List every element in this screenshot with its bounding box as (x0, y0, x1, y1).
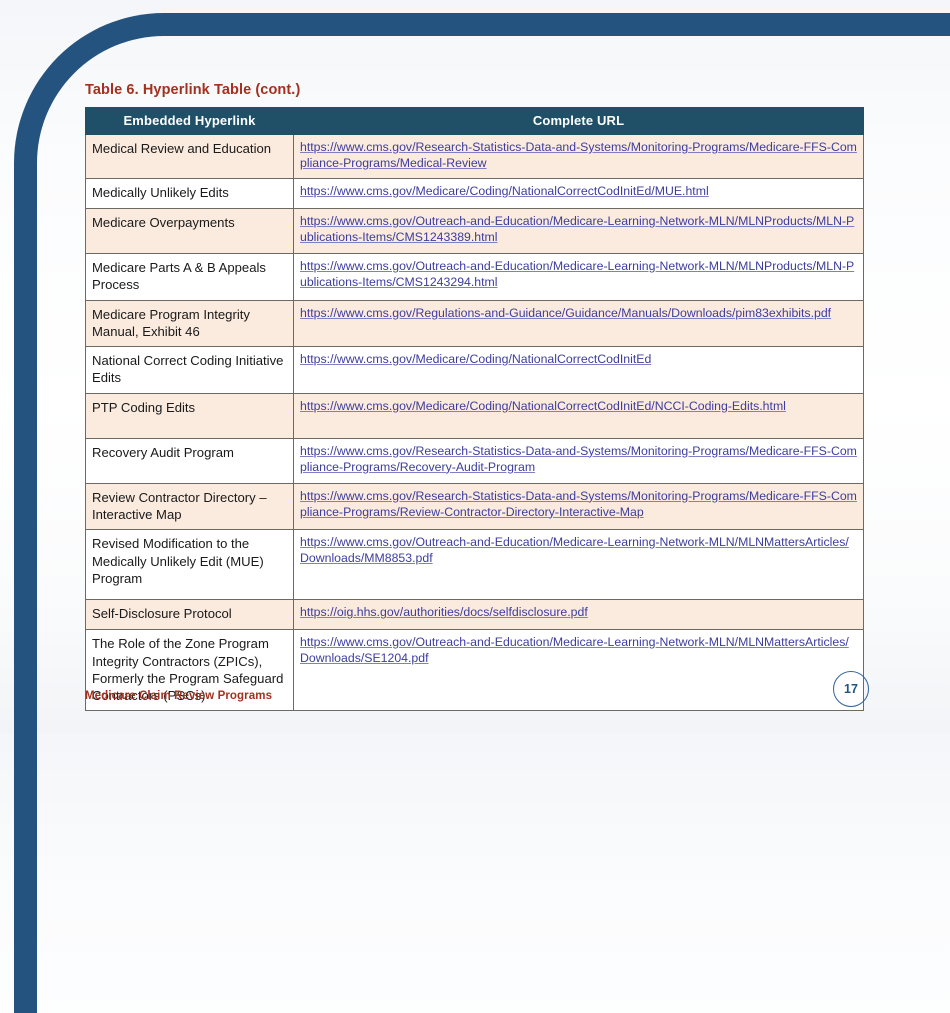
url-link[interactable]: https://oig.hhs.gov/authorities/docs/sel… (300, 605, 588, 619)
url-link[interactable]: https://www.cms.gov/Outreach-and-Educati… (300, 635, 849, 665)
table-row: National Correct Coding Initiative Edits… (86, 347, 864, 394)
table-body: Medical Review and Educationhttps://www.… (86, 135, 864, 711)
cell-embedded-hyperlink: Medically Unlikely Edits (86, 178, 294, 208)
cell-complete-url: https://www.cms.gov/Research-Statistics-… (294, 135, 864, 179)
cell-complete-url: https://www.cms.gov/Research-Statistics-… (294, 483, 864, 530)
url-link[interactable]: https://www.cms.gov/Outreach-and-Educati… (300, 535, 849, 565)
page-title: Table 6. Hyperlink Table (cont.) (85, 82, 300, 98)
footer-document-title: Medicare Claim Review Programs (85, 690, 272, 702)
url-link[interactable]: https://www.cms.gov/Regulations-and-Guid… (300, 306, 831, 320)
table-row: Medicare Parts A & B Appeals Processhttp… (86, 253, 864, 300)
cell-embedded-hyperlink: Medicare Program Integrity Manual, Exhib… (86, 300, 294, 347)
cell-complete-url: https://www.cms.gov/Outreach-and-Educati… (294, 253, 864, 300)
cell-embedded-hyperlink: Medicare Overpayments (86, 208, 294, 253)
cell-embedded-hyperlink: PTP Coding Edits (86, 393, 294, 438)
column-header-complete-url: Complete URL (294, 108, 864, 135)
column-header-embedded-hyperlink: Embedded Hyperlink (86, 108, 294, 135)
cell-complete-url: https://www.cms.gov/Outreach-and-Educati… (294, 630, 864, 711)
cell-embedded-hyperlink: Self-Disclosure Protocol (86, 600, 294, 630)
cell-complete-url: https://www.cms.gov/Regulations-and-Guid… (294, 300, 864, 347)
page-content: Table 6. Hyperlink Table (cont.) Embedde… (0, 0, 950, 733)
url-link[interactable]: https://www.cms.gov/Outreach-and-Educati… (300, 259, 854, 289)
cell-complete-url: https://www.cms.gov/Outreach-and-Educati… (294, 530, 864, 600)
cell-complete-url: https://www.cms.gov/Outreach-and-Educati… (294, 208, 864, 253)
cell-embedded-hyperlink: Recovery Audit Program (86, 438, 294, 483)
table-row: Recovery Audit Programhttps://www.cms.go… (86, 438, 864, 483)
cell-embedded-hyperlink: National Correct Coding Initiative Edits (86, 347, 294, 394)
cell-complete-url: https://www.cms.gov/Medicare/Coding/Nati… (294, 393, 864, 438)
cell-embedded-hyperlink: Medical Review and Education (86, 135, 294, 179)
table-row: Review Contractor Directory – Interactiv… (86, 483, 864, 530)
table-row: Medicare Program Integrity Manual, Exhib… (86, 300, 864, 347)
url-link[interactable]: https://www.cms.gov/Medicare/Coding/Nati… (300, 184, 709, 198)
url-link[interactable]: https://www.cms.gov/Medicare/Coding/Nati… (300, 352, 651, 366)
table-row: PTP Coding Editshttps://www.cms.gov/Medi… (86, 393, 864, 438)
table-row: Medical Review and Educationhttps://www.… (86, 135, 864, 179)
url-link[interactable]: https://www.cms.gov/Research-Statistics-… (300, 140, 857, 170)
table-row: Self-Disclosure Protocolhttps://oig.hhs.… (86, 600, 864, 630)
cell-complete-url: https://www.cms.gov/Medicare/Coding/Nati… (294, 347, 864, 394)
url-link[interactable]: https://www.cms.gov/Medicare/Coding/Nati… (300, 399, 786, 413)
cell-embedded-hyperlink: Review Contractor Directory – Interactiv… (86, 483, 294, 530)
page-number-badge: 17 (833, 671, 869, 707)
table-row: Medically Unlikely Editshttps://www.cms.… (86, 178, 864, 208)
table-header: Embedded Hyperlink Complete URL (86, 108, 864, 135)
table-row: Medicare Overpaymentshttps://www.cms.gov… (86, 208, 864, 253)
hyperlink-table: Embedded Hyperlink Complete URL Medical … (85, 107, 864, 711)
cell-embedded-hyperlink: Revised Modification to the Medically Un… (86, 530, 294, 600)
cell-complete-url: https://www.cms.gov/Research-Statistics-… (294, 438, 864, 483)
cell-complete-url: https://oig.hhs.gov/authorities/docs/sel… (294, 600, 864, 630)
table-header-row: Embedded Hyperlink Complete URL (86, 108, 864, 135)
cell-embedded-hyperlink: Medicare Parts A & B Appeals Process (86, 253, 294, 300)
url-link[interactable]: https://www.cms.gov/Outreach-and-Educati… (300, 214, 854, 244)
url-link[interactable]: https://www.cms.gov/Research-Statistics-… (300, 444, 857, 474)
table-row: Revised Modification to the Medically Un… (86, 530, 864, 600)
cell-complete-url: https://www.cms.gov/Medicare/Coding/Nati… (294, 178, 864, 208)
url-link[interactable]: https://www.cms.gov/Research-Statistics-… (300, 489, 857, 519)
